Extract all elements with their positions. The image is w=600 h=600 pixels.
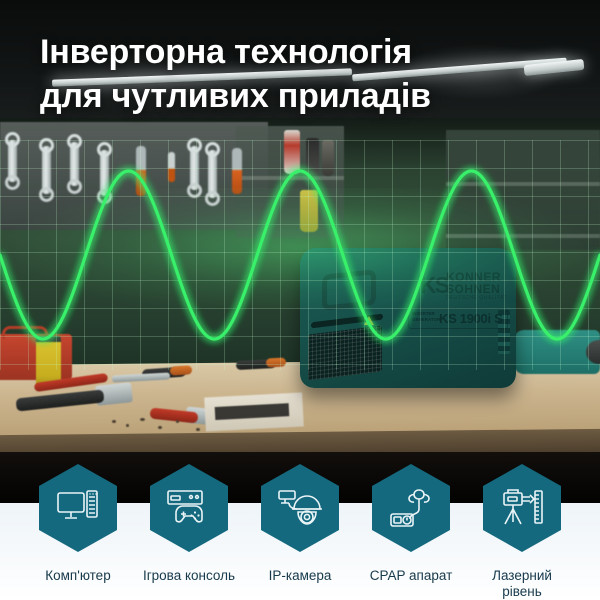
hex-badge [372, 464, 450, 552]
screwdriver-grip [266, 357, 286, 367]
tool-pegboard [0, 122, 268, 230]
feature-item-cpap[interactable]: CPAP апарат [363, 464, 459, 600]
debris [112, 420, 116, 423]
power-tool [514, 330, 600, 374]
pliers-icon [232, 148, 242, 194]
wall-shelf-unit [446, 130, 600, 250]
model-plate: INVERTER GENERATOR KS 1900i S [408, 308, 508, 329]
bottle [306, 138, 319, 176]
laser-level-icon [499, 486, 545, 530]
wrench-icon [208, 150, 217, 198]
feature-label: IP-камера [269, 568, 332, 584]
feature-item-computer[interactable]: Комп'ютер [30, 464, 126, 600]
feature-list: Комп'ютер Ігрова консоль [0, 464, 600, 600]
wrench-icon [100, 150, 109, 196]
pliers-icon [136, 146, 146, 196]
shelf-board [236, 176, 344, 180]
plate-type-line2: GENERATOR [412, 317, 440, 322]
plate-type-line1: INVERTER [412, 311, 435, 316]
spray-can [284, 130, 300, 174]
shelf-board [446, 234, 600, 238]
generator-vent-grille [308, 325, 382, 380]
brand-name-line2: SOHNEN [446, 282, 500, 296]
feature-item-laser-level[interactable]: Лазерний рівень [474, 464, 570, 600]
wrench-icon [70, 142, 79, 186]
bottle [300, 190, 318, 232]
plate-type: INVERTER GENERATOR [412, 311, 440, 323]
desktop-computer-icon [56, 488, 100, 528]
plate-model: KS 1900i S [439, 311, 503, 326]
feature-label: Комп'ютер [45, 568, 110, 584]
promo-banner: KS KONNER SOHNEN DEUTSCHE QUALITAT INVER… [0, 0, 600, 600]
hex-badge [483, 464, 561, 552]
shelf-board [446, 182, 600, 186]
screwdriver-grip [170, 365, 193, 376]
brand-monogram: KS [420, 272, 448, 299]
debris [140, 418, 145, 421]
screwdriver-icon [168, 152, 175, 182]
wrench-icon [8, 140, 17, 182]
headline-line-2: для чутливих приладів [40, 74, 570, 118]
ip-camera-icon [277, 487, 323, 529]
bottle [322, 140, 334, 176]
warning-triangle-icon [364, 316, 374, 325]
brand-logo: KS KONNER SOHNEN DEUTSCHE QUALITAT [420, 270, 510, 304]
debris [196, 428, 200, 431]
feature-label: Ігрова консоль [143, 568, 235, 584]
feature-item-game-console[interactable]: Ігрова консоль [141, 464, 237, 600]
hex-badge [39, 464, 117, 552]
feature-item-ip-camera[interactable]: IP-камера [252, 464, 348, 600]
paper-label [204, 392, 304, 431]
feature-label: Лазерний рівень [474, 568, 570, 600]
debris [158, 426, 162, 429]
hex-badge [261, 464, 339, 552]
wrench-icon [42, 146, 51, 194]
page-title: Інверторна технологія для чутливих прила… [40, 30, 570, 118]
brand-tagline: DEUTSCHE QUALITAT [446, 295, 507, 301]
cpap-machine-icon [389, 486, 433, 530]
generator-handle [322, 269, 376, 311]
debris [126, 424, 129, 427]
headline-line-1: Інверторна технологія [40, 33, 412, 71]
wrench-icon [190, 146, 199, 190]
feature-label: CPAP апарат [370, 568, 453, 584]
game-console-icon [166, 488, 212, 528]
hex-badge [150, 464, 228, 552]
debris [176, 420, 179, 423]
